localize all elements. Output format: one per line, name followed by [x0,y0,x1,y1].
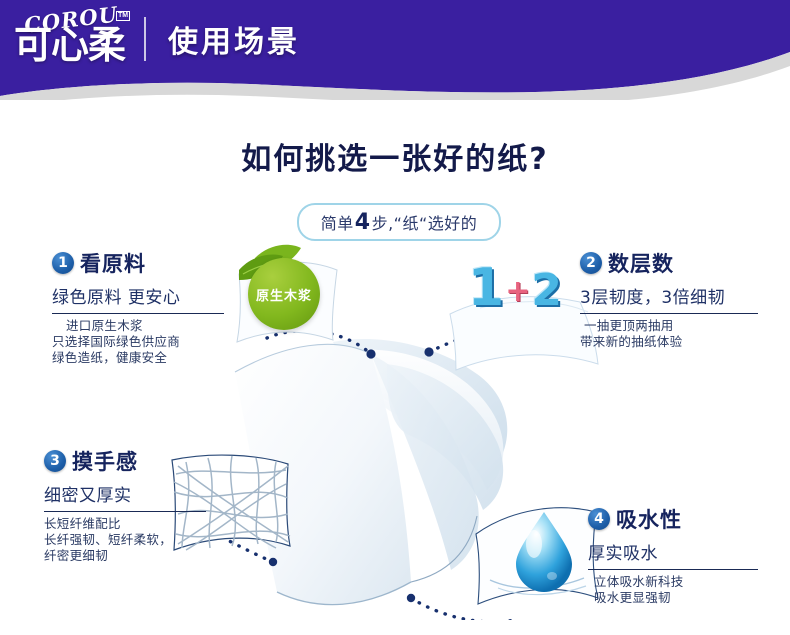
step-4-subtitle: 厚实吸水 [588,539,758,564]
page-root: COROU TM 可心柔 使用场景 如何挑选一张好的纸? 简单 4 步,“纸“选… [0,0,790,635]
step-3-badge: 3 [44,450,66,472]
step-3-title: 摸手感 [72,446,138,476]
step-2-header: 2 数层数 [580,248,758,278]
layers-digit-one: 1 [468,262,504,314]
step-1-header: 1 看原料 [52,248,224,278]
step-2-divider [580,313,758,314]
step-1-divider [52,313,224,314]
step-1-detail-line: 绿色造纸，健康安全 [52,350,224,366]
trademark-icon: TM [116,11,130,21]
layers-digit-two: 2 [531,268,562,314]
subtitle-suffix: 步,“纸“选好的 [372,210,478,234]
step-3-details: 长短纤维配比 长纤强韧、短纤柔软， 纤密更细韧 [44,516,206,564]
step-1-subtitle: 绿色原料 更安心 [52,283,224,308]
subtitle-badge: 简单 4 步,“纸“选好的 [297,203,501,241]
plus-icon: + [505,270,530,314]
step-2-subtitle: 3层韧度，3倍细韧 [580,283,758,308]
step-2-details: 一抽更顶两抽用 带来新的抽纸体验 [580,318,758,350]
header-title: 使用场景 [168,17,300,61]
step-1-badge: 1 [52,252,74,274]
water-drop-graphic [468,492,608,617]
step-4-detail-line: 吸水更显强韧 [588,590,758,606]
step-3-divider [44,511,206,512]
step-3-detail-line: 长短纤维配比 [44,516,206,532]
step-3-subtitle: 细密又厚实 [44,481,206,506]
step-4-detail-line: 立体吸水新科技 [588,574,758,590]
subtitle-step-count: 4 [354,210,372,235]
step-2-detail-line: 带来新的抽纸体验 [580,334,758,350]
step-2: 2 数层数 3层韧度，3倍细韧 一抽更顶两抽用 带来新的抽纸体验 [580,248,758,350]
step-4: 4 吸水性 厚实吸水 立体吸水新科技 吸水更显强韧 [588,504,758,606]
step-2-title: 数层数 [608,248,674,278]
step-2-badge: 2 [580,252,602,274]
layers-count-graphic: 1 + 2 [468,252,578,314]
page-header: COROU TM 可心柔 使用场景 [0,0,790,100]
step-3-header: 3 摸手感 [44,446,206,476]
pulp-label-badge: 原生木浆 [248,258,320,330]
step-4-title: 吸水性 [616,504,682,534]
step-4-header: 4 吸水性 [588,504,758,534]
step-4-badge: 4 [588,508,610,530]
header-divider [144,17,146,61]
brand-logo[interactable]: COROU TM 可心柔 [8,3,136,75]
step-3: 3 摸手感 细密又厚实 长短纤维配比 长纤强韧、短纤柔软， 纤密更细韧 [44,446,206,564]
step-3-detail-line: 纤密更细韧 [44,548,206,564]
step-1-detail-line: 进口原生木浆 [52,318,224,334]
step-2-detail-line: 一抽更顶两抽用 [580,318,758,334]
step-1-title: 看原料 [80,248,146,278]
step-3-detail-line: 长纤强韧、短纤柔软， [44,532,206,548]
header-content: COROU TM 可心柔 使用场景 [0,0,790,78]
step-1: 1 看原料 绿色原料 更安心 进口原生木浆 只选择国际绿色供应商 绿色造纸，健康… [52,248,224,366]
step-1-detail-line: 只选择国际绿色供应商 [52,334,224,350]
subtitle-prefix: 简单 [321,210,354,234]
step-4-divider [588,569,758,570]
logo-chinese-text: 可心柔 [14,23,125,67]
pulp-label-text: 原生木浆 [256,285,312,304]
page-title: 如何挑选一张好的纸? [0,134,790,178]
step-4-details: 立体吸水新科技 吸水更显强韧 [588,574,758,606]
step-1-details: 进口原生木浆 只选择国际绿色供应商 绿色造纸，健康安全 [52,318,224,366]
